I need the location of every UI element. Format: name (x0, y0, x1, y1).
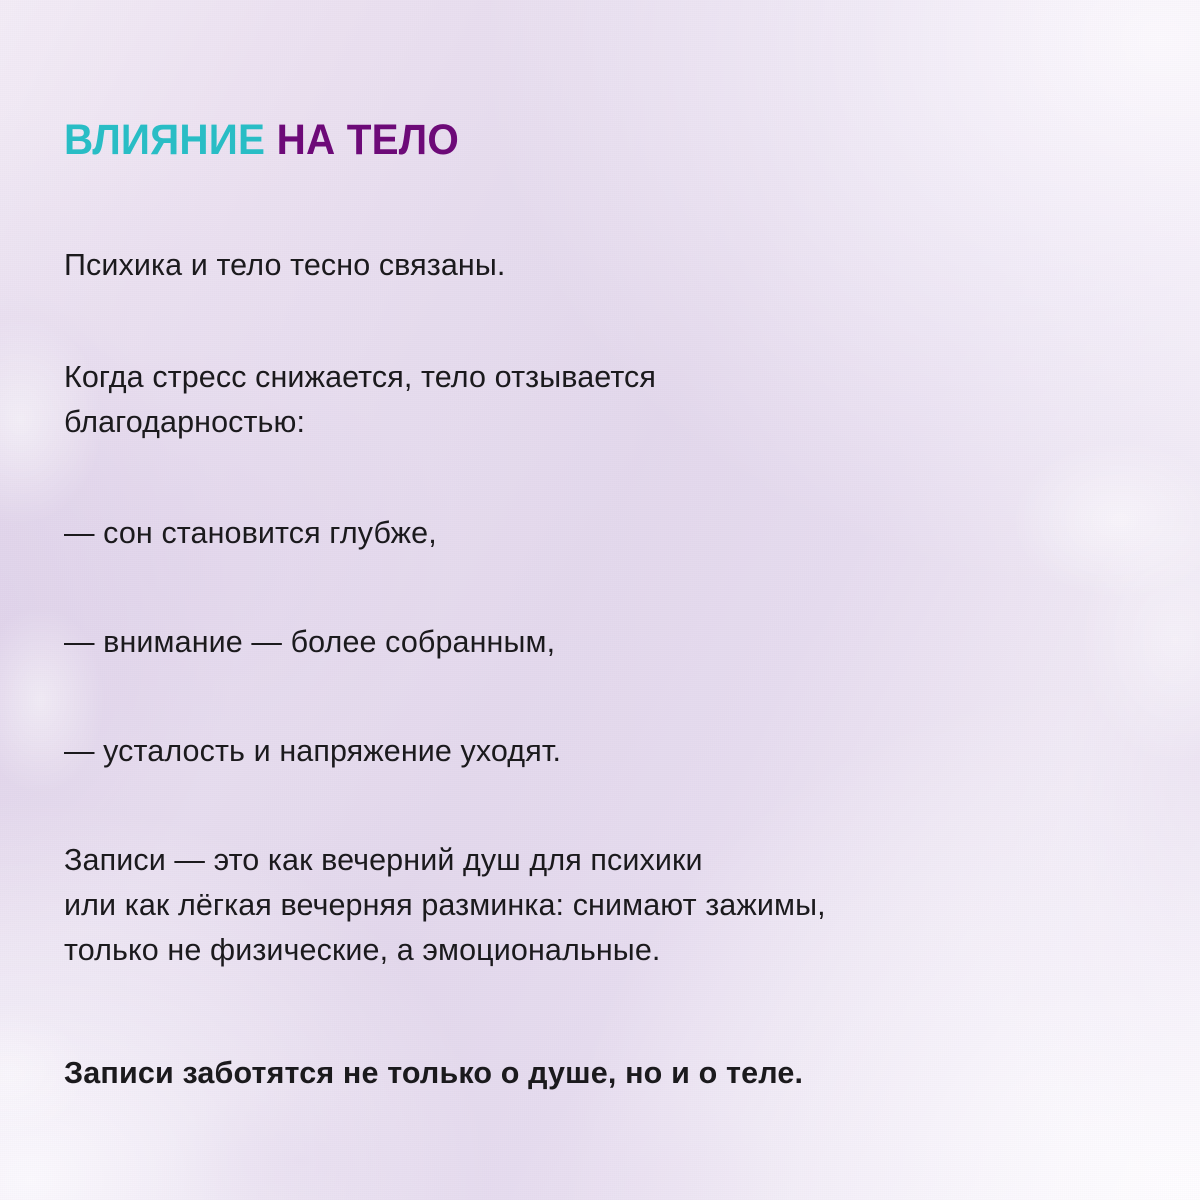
bullet-sleep: — сон становится глубже, (64, 511, 437, 556)
paragraph-conclusion: Записи заботятся не только о душе, но и … (64, 1051, 803, 1096)
bullet-fatigue: — усталость и напряжение уходят. (64, 729, 561, 774)
paragraph-stress-lead-in: Когда стресс снижается, тело отзывается … (64, 355, 656, 445)
paragraph-evening-shower-metaphor: Записи — это как вечерний душ для психик… (64, 838, 826, 973)
paragraph-intro: Психика и тело тесно связаны. (64, 243, 505, 288)
slide-content: ВЛИЯНИЕ НА ТЕЛО Психика и тело тесно свя… (0, 0, 1200, 1200)
slide-title-part-purple: НА ТЕЛО (277, 116, 459, 164)
slide-title-part-teal: ВЛИЯНИЕ (64, 116, 265, 164)
slide-title: ВЛИЯНИЕ НА ТЕЛО (64, 118, 459, 163)
slide-canvas: ВЛИЯНИЕ НА ТЕЛО Психика и тело тесно свя… (0, 0, 1200, 1200)
bullet-attention: — внимание — более собранным, (64, 620, 555, 665)
